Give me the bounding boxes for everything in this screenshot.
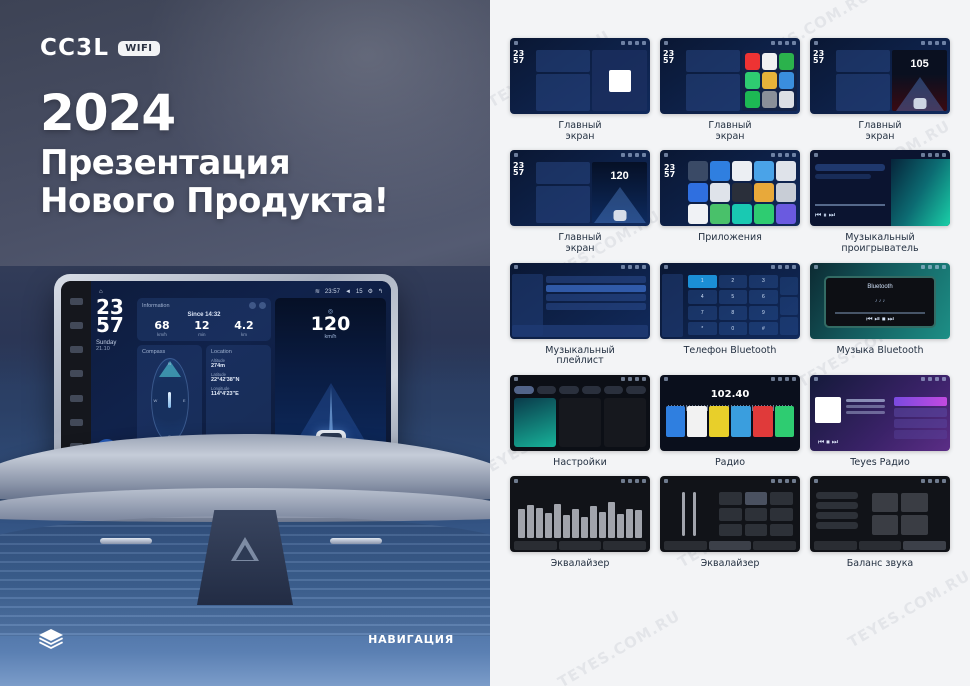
gallery-caption: Главныйэкран bbox=[558, 233, 601, 254]
stat-speed-unit: km/h bbox=[154, 332, 169, 337]
status-volume: 15 bbox=[356, 289, 363, 295]
key-back-icon[interactable] bbox=[70, 395, 83, 402]
gallery-caption: Музыкальныйплейлист bbox=[545, 346, 615, 367]
home-circle-icon[interactable]: ⌂ bbox=[99, 289, 103, 295]
thumbnail-equalizer-simple[interactable] bbox=[660, 476, 800, 552]
gallery-caption: Главныйэкран bbox=[858, 121, 901, 142]
gallery-caption: Настройки bbox=[553, 458, 607, 469]
speed-unit: km/h bbox=[275, 334, 386, 340]
gallery-item[interactable]: 2357 Приложения bbox=[660, 150, 800, 254]
layers-icon bbox=[38, 628, 64, 650]
thumb-speed-value: 105 bbox=[892, 58, 947, 70]
brand-name: CC3L bbox=[40, 35, 109, 61]
thumbnail-radio[interactable]: 102.40 bbox=[660, 375, 800, 451]
headline-line-1: Презентация bbox=[40, 144, 389, 182]
expand-icon[interactable] bbox=[259, 302, 266, 309]
thumb-speed-value: 120 bbox=[592, 170, 647, 182]
gallery-caption: Музыка Bluetooth bbox=[836, 346, 923, 357]
thumbnail-home-apps[interactable]: 2357 bbox=[660, 38, 800, 114]
speed-value: 120 bbox=[275, 315, 386, 334]
stat-distance-unit: km bbox=[234, 332, 254, 337]
refresh-icon[interactable] bbox=[249, 302, 256, 309]
latitude-value: 22°42'38"N bbox=[211, 377, 266, 383]
gallery-item[interactable]: 2357 Главныйэкран bbox=[660, 38, 800, 142]
stat-time-unit: min bbox=[194, 332, 209, 337]
gallery-caption: Главныйэкран bbox=[708, 121, 751, 142]
trim-strip-left bbox=[100, 538, 152, 544]
presentation-slide: CC3L WIFI 2024 Презентация Нового Продук… bbox=[0, 0, 970, 686]
radio-frequency: 102.40 bbox=[660, 389, 800, 400]
thumbnail-playlist[interactable] bbox=[510, 263, 650, 339]
gallery-item[interactable]: Настройки bbox=[510, 375, 650, 469]
information-title: Information bbox=[142, 303, 170, 309]
information-card[interactable]: Information Since 14:32 bbox=[137, 298, 271, 341]
longitude-value: 114°4'23"E bbox=[211, 391, 266, 397]
hero-headline: Презентация Нового Продукта! bbox=[40, 144, 389, 220]
key-next-icon[interactable] bbox=[70, 322, 83, 329]
gallery-item[interactable]: 2357 120 Главныйэкран bbox=[510, 150, 650, 254]
watermark: TEYES.COM.RU bbox=[555, 607, 684, 686]
information-actions[interactable] bbox=[249, 302, 266, 309]
clock-date: 21.10 bbox=[96, 346, 133, 352]
car-dashboard-scene: ⌂ ≋ 23:57 ◄ 15 ⚙ ↰ 23 57 S bbox=[0, 266, 490, 686]
thumbnail-home-speed[interactable]: 2357 120 bbox=[510, 150, 650, 226]
compass-needle-icon bbox=[168, 392, 171, 408]
thumbnail-balance[interactable] bbox=[810, 476, 950, 552]
key-prev-icon[interactable] bbox=[70, 298, 83, 305]
speed-readout: ◎ 120 km/h bbox=[275, 308, 386, 340]
gallery-item[interactable]: ⏮ ⏹ ⏭ Teyes Радио bbox=[810, 375, 950, 469]
watermark: TEYES.COM.RU bbox=[845, 567, 970, 652]
thumbnail-apps[interactable]: 2357 bbox=[660, 150, 800, 226]
compass-e: E bbox=[183, 398, 186, 403]
key-volume-down-icon[interactable] bbox=[70, 419, 83, 426]
key-home-icon[interactable] bbox=[70, 370, 83, 377]
hazard-triangle-icon bbox=[231, 537, 259, 561]
gallery-caption: Баланс звука bbox=[847, 559, 914, 570]
latitude-row: Latitude 22°42'38"N bbox=[211, 372, 266, 383]
compass-title: Compass bbox=[142, 349, 197, 355]
gallery-caption: Teyes Радио bbox=[850, 458, 910, 469]
gallery-item[interactable]: Музыкальныйплейлист bbox=[510, 263, 650, 367]
trim-strip-right bbox=[330, 538, 382, 544]
gallery-caption: Главныйэкран bbox=[558, 121, 601, 142]
gallery-item[interactable]: Эквалайзер bbox=[660, 476, 800, 570]
hero-panel: CC3L WIFI 2024 Презентация Нового Продук… bbox=[0, 0, 490, 686]
wifi-icon: ≋ bbox=[315, 288, 320, 295]
location-title: Location bbox=[211, 349, 266, 355]
compass-n: N bbox=[168, 361, 171, 366]
brand-logo: CC3L WIFI bbox=[40, 35, 160, 61]
wifi-badge: WIFI bbox=[118, 41, 159, 56]
head-unit-hard-keys[interactable] bbox=[61, 281, 91, 467]
hazard-button[interactable] bbox=[228, 534, 262, 564]
gallery-caption: Телефон Bluetooth bbox=[684, 346, 777, 357]
gallery-item[interactable]: Баланс звука bbox=[810, 476, 950, 570]
navigation-label: НАВИГАЦИЯ bbox=[368, 633, 454, 646]
stat-speed: 68 km/h bbox=[154, 320, 169, 337]
altitude-row: Altitude 274m bbox=[211, 358, 266, 369]
compass-dial: N E S W bbox=[151, 358, 189, 442]
gallery-caption: Радио bbox=[715, 458, 745, 469]
gallery-caption: Эквалайзер bbox=[551, 559, 610, 570]
thumbnail-equalizer-bars[interactable] bbox=[510, 476, 650, 552]
stat-time-value: 12 bbox=[194, 320, 209, 331]
gallery-caption: Музыкальныйпроигрыватель bbox=[841, 233, 918, 254]
thumbnail-music-player[interactable]: ⏮ ⏸ ⏭ bbox=[810, 150, 950, 226]
thumbnail-teyes-radio[interactable]: ⏮ ⏹ ⏭ bbox=[810, 375, 950, 451]
status-time: 23:57 bbox=[325, 289, 340, 295]
back-icon[interactable]: ↰ bbox=[378, 288, 383, 295]
longitude-row: Longitude 114°4'23"E bbox=[211, 386, 266, 397]
stat-distance-value: 4.2 bbox=[234, 320, 254, 331]
status-bar: ⌂ ≋ 23:57 ◄ 15 ⚙ ↰ bbox=[96, 285, 386, 298]
gallery-item[interactable]: Bluetooth ♪ ♪ ♪ ⏮ ⏯ ⏹ ⏭ Музыка Bluetooth bbox=[810, 263, 950, 367]
information-card-header: Information bbox=[142, 302, 266, 309]
gallery-item[interactable]: 2357 105 Главныйэкран bbox=[810, 38, 950, 142]
clock-minutes: 57 bbox=[96, 316, 133, 334]
gallery-caption: Эквалайзер bbox=[701, 559, 760, 570]
headline-line-2: Нового Продукта! bbox=[40, 182, 389, 220]
thumbnail-home-media[interactable]: 2357 bbox=[510, 38, 650, 114]
thumbnail-bt-music[interactable]: Bluetooth ♪ ♪ ♪ ⏮ ⏯ ⏹ ⏭ bbox=[810, 263, 950, 339]
screenshot-gallery: TEYES.COM.RU TEYES.COM.RU TEYES.COM.RU T… bbox=[490, 0, 970, 686]
compass-w: W bbox=[154, 398, 158, 403]
hero-title: 2024 Презентация Нового Продукта! bbox=[40, 88, 389, 220]
key-power-icon[interactable] bbox=[70, 346, 83, 353]
trip-stats: 68 km/h 12 min 4.2 bbox=[142, 320, 266, 337]
gallery-item[interactable]: 123 456 789 *0# Телефон Bluetooth bbox=[660, 263, 800, 367]
gallery-caption: Приложения bbox=[698, 233, 762, 244]
clock-column: 23 57 Sunday 21.10 ▲ bbox=[96, 298, 133, 461]
thumbnail-home-speed-red[interactable]: 2357 105 bbox=[810, 38, 950, 114]
gear-icon[interactable]: ⚙ bbox=[368, 288, 373, 295]
stat-time: 12 min bbox=[194, 320, 209, 337]
gallery-item[interactable]: ⏮ ⏸ ⏭ Музыкальныйпроигрыватель bbox=[810, 150, 950, 254]
hero-year: 2024 bbox=[40, 88, 389, 138]
gallery-item[interactable]: 102.40 Радио bbox=[660, 375, 800, 469]
gallery-item[interactable]: 2357 Главныйэкран bbox=[510, 38, 650, 142]
gallery-item[interactable]: Эквалайзер bbox=[510, 476, 650, 570]
altitude-value: 274m bbox=[211, 363, 266, 369]
since-label: Since 14:32 bbox=[142, 312, 266, 318]
volume-icon: ◄ bbox=[345, 289, 351, 295]
stat-distance: 4.2 km bbox=[234, 320, 254, 337]
stat-speed-value: 68 bbox=[154, 320, 169, 331]
thumbnail-settings[interactable] bbox=[510, 375, 650, 451]
thumbnail-bt-phone[interactable]: 123 456 789 *0# bbox=[660, 263, 800, 339]
thumbnail-grid: 2357 Главныйэкран 2357 bbox=[510, 38, 950, 570]
